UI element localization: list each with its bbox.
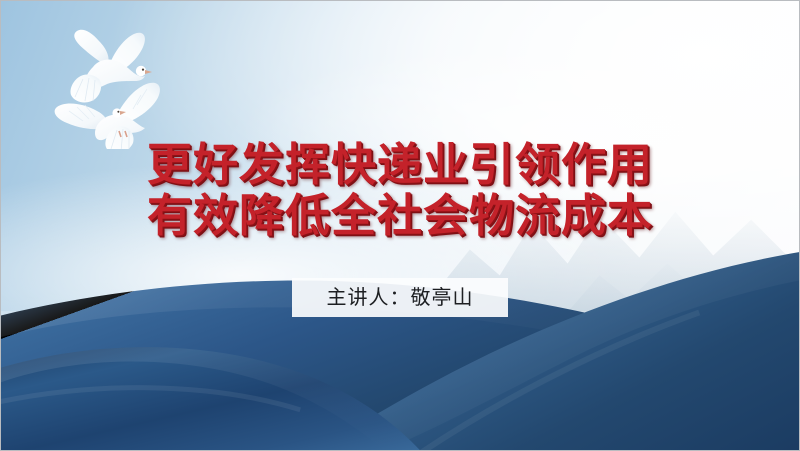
presenter-label: 主讲人：敬亭山 [326,284,474,310]
doves-decoration [49,19,189,149]
blue-hills-foreground [1,243,799,450]
presenter-bar: 主讲人：敬亭山 [292,278,508,317]
title-line-1: 更好发挥快递业引领作用 [1,139,799,190]
title-line-2: 有效降低全社会物流成本 [1,190,799,241]
slide-title: 更好发挥快递业引领作用 有效降低全社会物流成本 [1,139,799,241]
presentation-slide: 更好发挥快递业引领作用 有效降低全社会物流成本 主讲人：敬亭山 [0,0,800,451]
